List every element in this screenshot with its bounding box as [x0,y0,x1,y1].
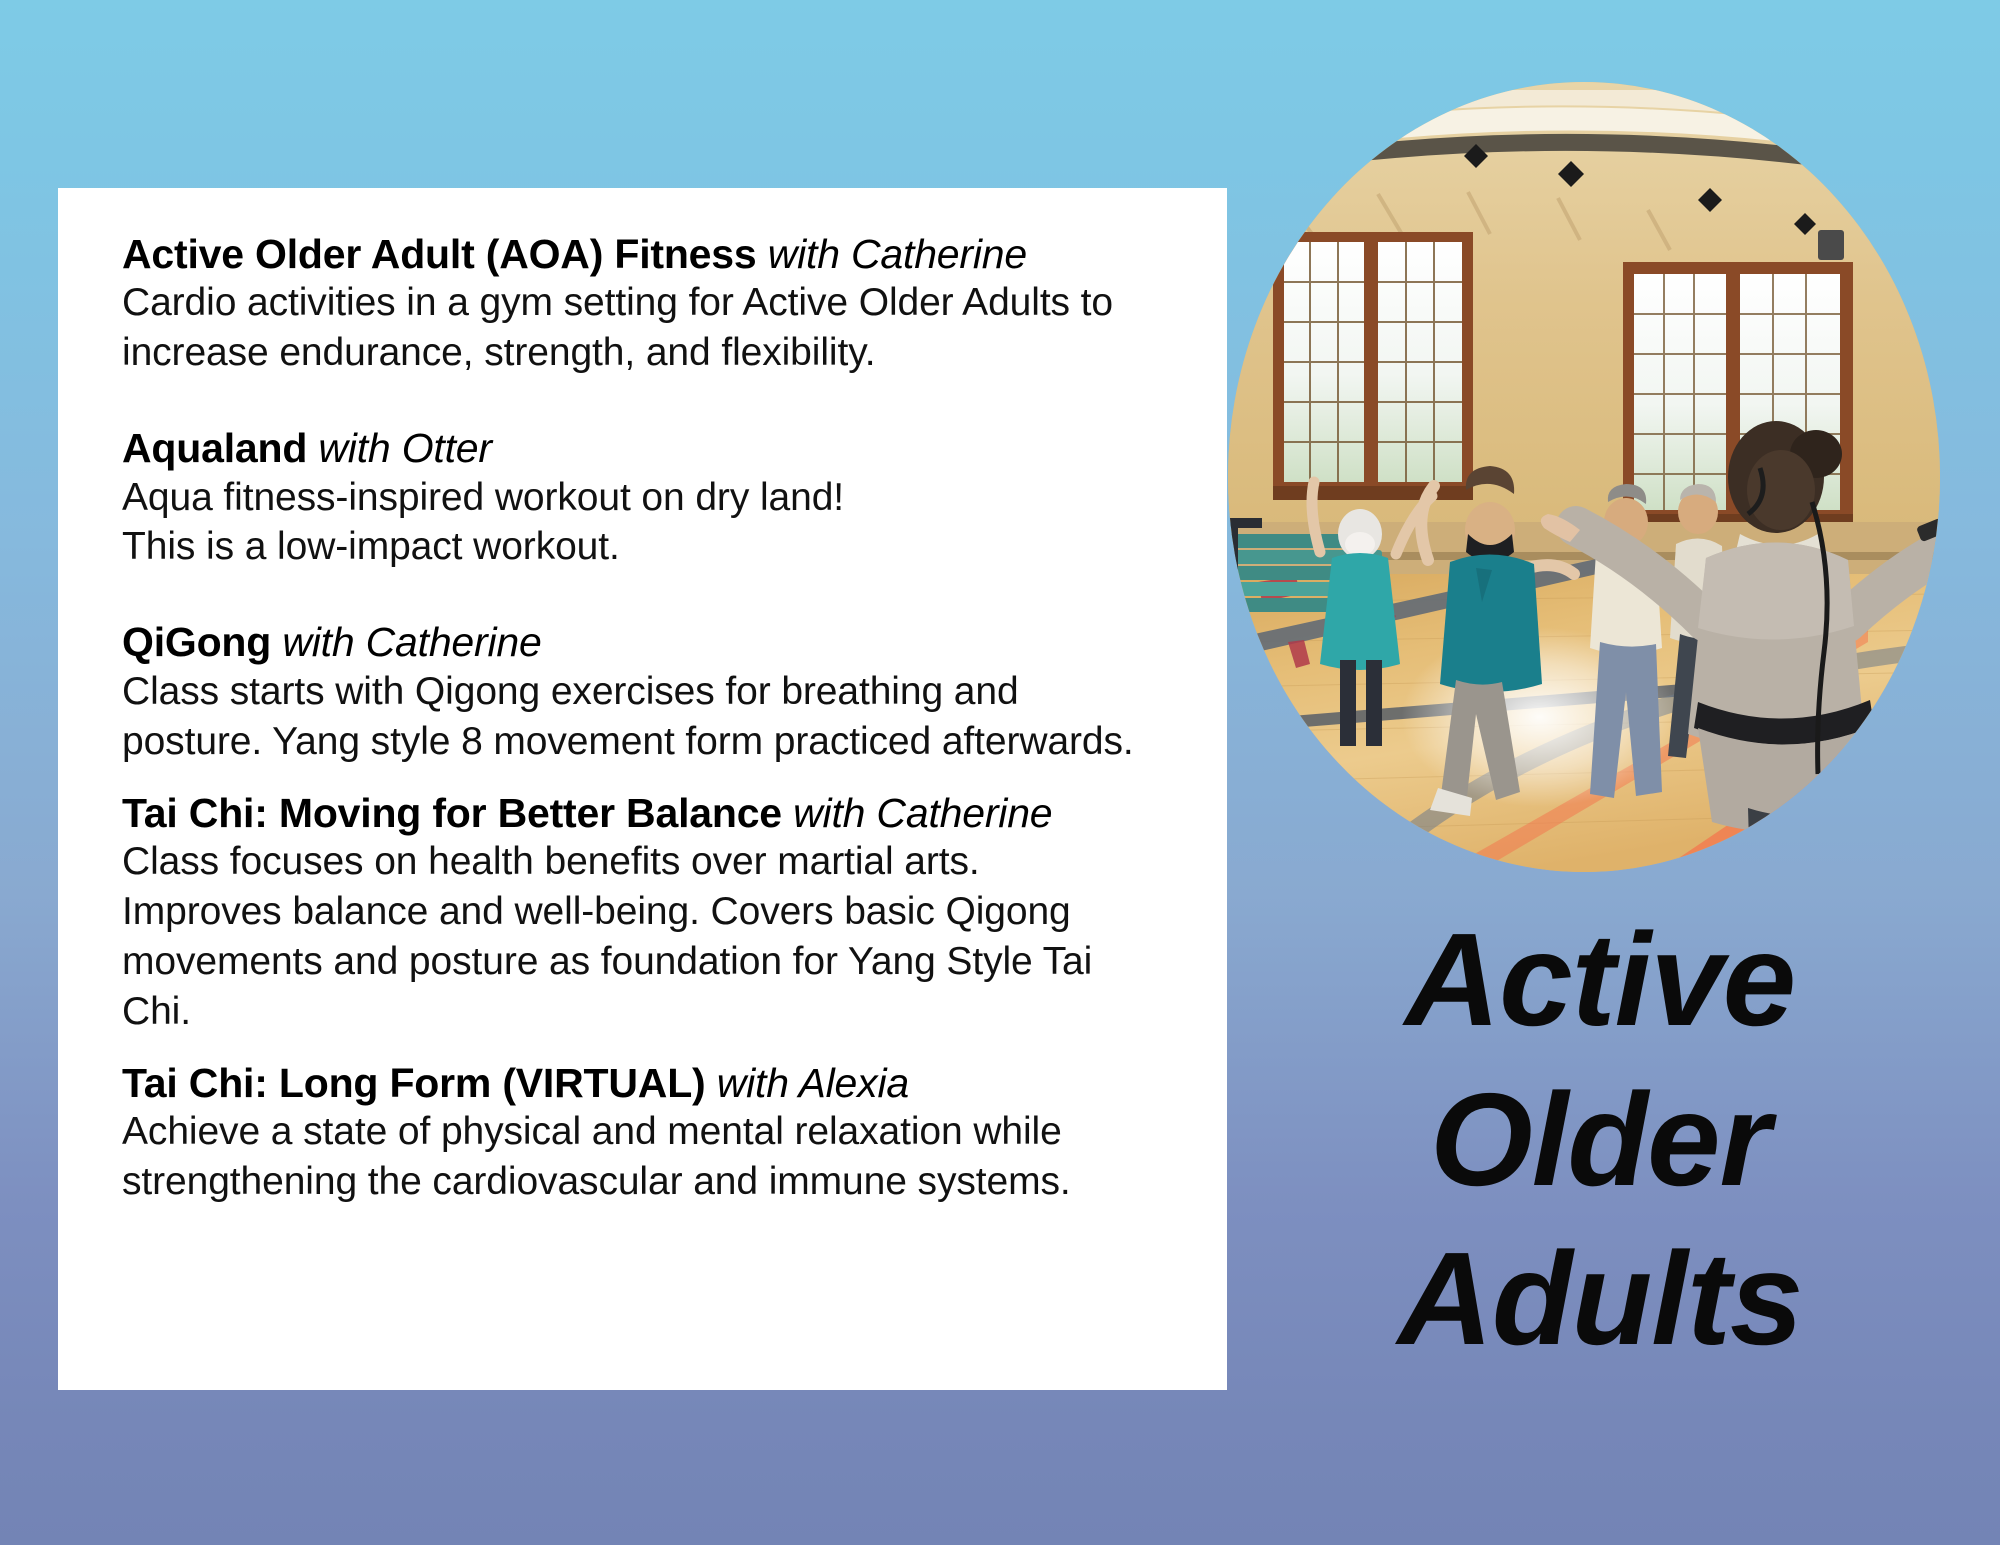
spacer [122,572,1163,618]
class-name: QiGong [122,619,271,665]
class-description-line: movements and posture as foundation for … [122,937,1163,987]
class-description-line: increase endurance, strength, and flexib… [122,328,1163,378]
class-heading: Active Older Adult (AOA) Fitness with Ca… [122,230,1163,278]
class-name: Tai Chi: Long Form (VIRTUAL) [122,1060,706,1106]
class-description-line: Class starts with Qigong exercises for b… [122,667,1163,717]
spacer [122,767,1163,789]
class-heading: Tai Chi: Long Form (VIRTUAL) with Alexia [122,1059,1163,1107]
class-heading: Tai Chi: Moving for Better Balance with … [122,789,1163,837]
class-description-line: Class focuses on health benefits over ma… [122,837,1163,887]
class-instructor: with Catherine [793,790,1052,836]
poster-title: Active Older Adults [1240,900,1960,1379]
class-instructor: with Catherine [282,619,541,665]
class-heading: QiGong with Catherine [122,618,1163,666]
class-instructor: with Alexia [717,1060,909,1106]
title-line-adults: Adults [1240,1219,1960,1379]
class-description-line: Achieve a state of physical and mental r… [122,1107,1163,1157]
class-entry-0: Active Older Adult (AOA) Fitness with Ca… [122,230,1163,378]
class-entry-3: Tai Chi: Moving for Better Balance with … [122,789,1163,1037]
class-entry-2: QiGong with Catherine Class starts with … [122,618,1163,766]
class-list-panel: Active Older Adult (AOA) Fitness with Ca… [58,188,1227,1390]
title-line-older: Older [1240,1060,1960,1220]
spacer [122,1037,1163,1059]
title-line-active: Active [1240,900,1960,1060]
class-description-line: Improves balance and well-being. Covers … [122,887,1163,937]
class-name: Aqualand [122,425,307,471]
class-instructor: with Catherine [768,231,1027,277]
class-entry-4: Tai Chi: Long Form (VIRTUAL) with Alexia… [122,1059,1163,1207]
class-description-line: strengthening the cardiovascular and imm… [122,1157,1163,1207]
class-description-line: This is a low-impact workout. [122,522,1163,572]
class-photo [1228,82,1940,872]
class-instructor: with Otter [318,425,491,471]
poster-canvas: Active Older Adult (AOA) Fitness with Ca… [0,0,2000,1545]
class-description-line: Aqua fitness-inspired workout on dry lan… [122,473,1163,523]
class-description-line: Cardio activities in a gym setting for A… [122,278,1163,328]
class-heading: Aqualand with Otter [122,424,1163,472]
class-name: Tai Chi: Moving for Better Balance [122,790,782,836]
class-description-line: Chi. [122,987,1163,1037]
class-entry-1: Aqualand with Otter Aqua fitness-inspire… [122,424,1163,572]
spacer [122,378,1163,424]
gym-class-photo-illustration [1228,82,1940,872]
class-name: Active Older Adult (AOA) Fitness [122,231,757,277]
class-description-line: posture. Yang style 8 movement form prac… [122,717,1163,767]
